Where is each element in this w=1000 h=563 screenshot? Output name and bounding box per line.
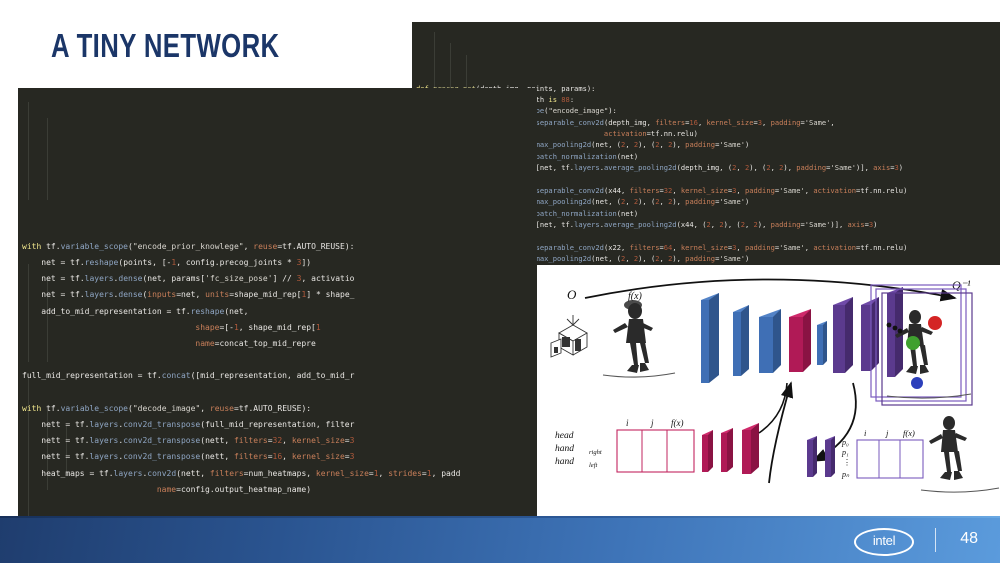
code-line	[18, 385, 537, 401]
conv-block-blue-5	[817, 321, 827, 365]
code-line	[18, 498, 537, 514]
conv-block-blue-1	[701, 293, 719, 383]
fc-block-magenta-1	[702, 430, 713, 472]
prob-label-p0: p₀	[841, 438, 849, 447]
fc-block-magenta-3	[742, 423, 759, 474]
fc-block-magenta-2	[721, 428, 733, 472]
conv-block-purple-6	[833, 297, 853, 373]
joint-table-right-col-i: i	[864, 428, 867, 438]
code-line: net = tf.layers.dense(net, params['fc_si…	[18, 271, 537, 287]
prob-label-pn: pₙ	[841, 470, 850, 479]
code-line	[18, 352, 537, 368]
diagram-label-O: O	[567, 287, 577, 302]
conv-block-blue-3	[759, 309, 781, 373]
joint-label-head: head	[555, 431, 574, 441]
slide-canvas: A TINY NETWORK def precog_net(depth_img,…	[0, 0, 1000, 563]
code-line: nett = tf.layers.conv2d_transpose(nett, …	[18, 449, 537, 465]
joint-label-hand-left-sub: left	[589, 462, 597, 469]
keypoint-torso	[906, 336, 920, 350]
code-line: heat_maps = tf.layers.conv2d(nett, filte…	[18, 466, 537, 482]
conv-block-magenta-4	[789, 309, 811, 372]
code-line: with tf.variable_scope("decode_image", r…	[18, 401, 537, 417]
joint-label-hand-right: hand	[555, 444, 574, 454]
code-line: name=config.output_heatmap_name)	[18, 482, 537, 498]
joint-table-right	[857, 440, 923, 478]
person-sketch-final	[929, 416, 967, 480]
joint-label-hand-left: hand	[555, 457, 574, 467]
keypoint-head	[928, 316, 942, 330]
footer-hairline	[0, 516, 1000, 518]
person-sketch-input	[613, 300, 653, 373]
joint-table-right-col-j: j	[885, 428, 889, 438]
code-line: name=concat_top_mid_repre	[18, 336, 537, 352]
code-line: nett = tf.layers.conv2d_transpose(nett, …	[18, 433, 537, 449]
conv-block-blue-2	[733, 305, 749, 376]
page-number: 48	[960, 530, 978, 548]
code-line: add_to_mid_representation = tf.reshape(n…	[18, 304, 537, 320]
code-line: net = tf.reshape(points, [-1, config.pre…	[18, 255, 537, 271]
code-line: full_mid_representation = tf.concat([mid…	[18, 368, 537, 384]
code-block-encode-decode[interactable]: with tf.variable_scope("encode_prior_kno…	[18, 88, 537, 521]
joint-table-left	[617, 430, 694, 472]
fc-block-purple-out-2	[825, 436, 835, 477]
intel-logo: intel	[854, 528, 914, 556]
joint-label-hand-right-sub: right	[589, 449, 602, 456]
code-line: net = tf.layers.dense(inputs=net, units=…	[18, 287, 537, 303]
neural-network-diagram: O Q⁻¹ f(x)	[537, 265, 1000, 516]
slide-footer-bar: intel 48	[0, 516, 1000, 563]
code-line: shape=[-1, shape_mid_rep[1	[18, 320, 537, 336]
camera-sketch	[551, 315, 587, 357]
code-line: nett = tf.layers.conv2d_transpose(full_m…	[18, 417, 537, 433]
joint-table-left-col-i: i	[626, 418, 629, 428]
prob-label-p1: p₁	[841, 448, 849, 457]
keypoint-foot	[911, 377, 923, 389]
joint-table-right-col-fx: f(x)	[903, 428, 915, 438]
page-title: A TINY NETWORK	[51, 27, 280, 65]
joint-table-left-col-j: j	[650, 418, 654, 428]
footer-divider	[935, 528, 936, 552]
joint-table-left-col-fx: f(x)	[671, 418, 684, 428]
prob-label-dots: ⋮	[843, 458, 851, 467]
fc-block-purple-out-1	[807, 436, 817, 477]
code-line: with tf.variable_scope("encode_prior_kno…	[18, 239, 537, 255]
